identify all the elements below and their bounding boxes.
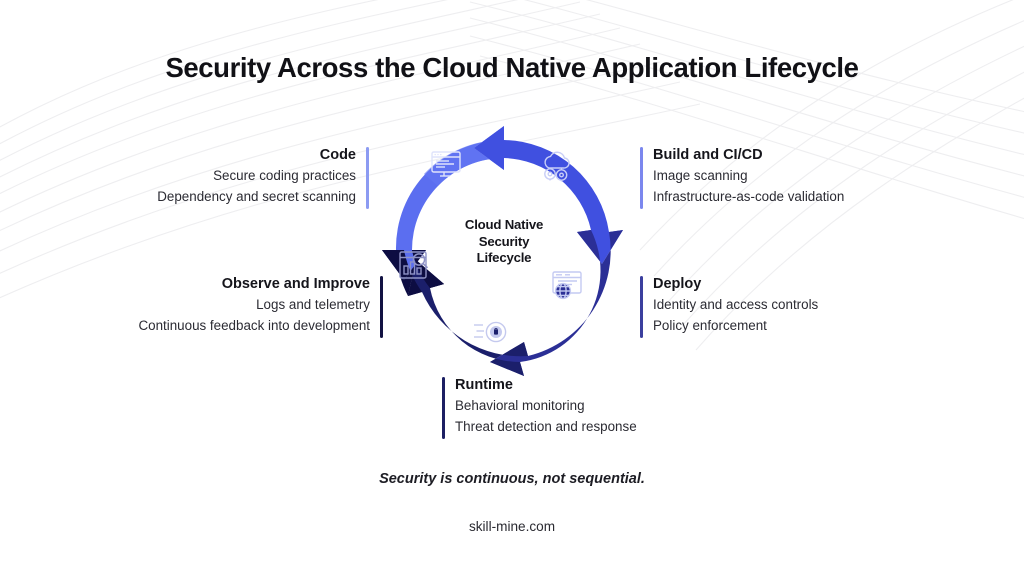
brand-footer: skill-mine.com [0,519,1024,534]
block-heading-runtime: Runtime [455,375,755,396]
block-line-runtime-1: Behavioral monitoring [455,396,755,417]
block-line-deploy-1: Identity and access controls [653,295,973,316]
center-line-3: Lifecycle [438,250,570,267]
block-line-build-2: Infrastructure-as-code validation [653,187,973,208]
stage-block-deploy: Deploy Identity and access controls Poli… [640,274,973,336]
block-line-build-1: Image scanning [653,166,973,187]
target-lock-icon [474,322,506,341]
accent-bar-observe [380,276,383,338]
block-heading-deploy: Deploy [653,274,973,295]
center-line-1: Cloud Native [438,217,570,234]
browser-globe-icon [553,272,581,298]
accent-bar-runtime [442,377,445,439]
block-line-code-1: Secure coding practices [60,166,356,187]
accent-bar-code [366,147,369,209]
block-line-observe-2: Continuous feedback into development [50,316,370,337]
tagline: Security is continuous, not sequential. [0,471,1024,487]
stage-block-observe: Observe and Improve Logs and telemetry C… [50,274,383,336]
stage-block-build: Build and CI/CD Image scanning Infrastru… [640,145,973,207]
ring-center-label: Cloud Native Security Lifecycle [438,217,570,267]
page-title: Security Across the Cloud Native Applica… [0,52,1024,84]
stage-block-code: Code Secure coding practices Dependency … [60,145,369,207]
block-line-code-2: Dependency and secret scanning [60,187,356,208]
block-heading-build: Build and CI/CD [653,145,973,166]
block-heading-code: Code [60,145,356,166]
accent-bar-deploy [640,276,643,338]
block-line-runtime-2: Threat detection and response [455,417,755,438]
center-line-2: Security [438,234,570,251]
block-line-deploy-2: Policy enforcement [653,316,973,337]
block-heading-observe: Observe and Improve [50,274,370,295]
block-line-observe-1: Logs and telemetry [50,295,370,316]
accent-bar-build [640,147,643,209]
stage-block-runtime: Runtime Behavioral monitoring Threat det… [442,375,755,437]
